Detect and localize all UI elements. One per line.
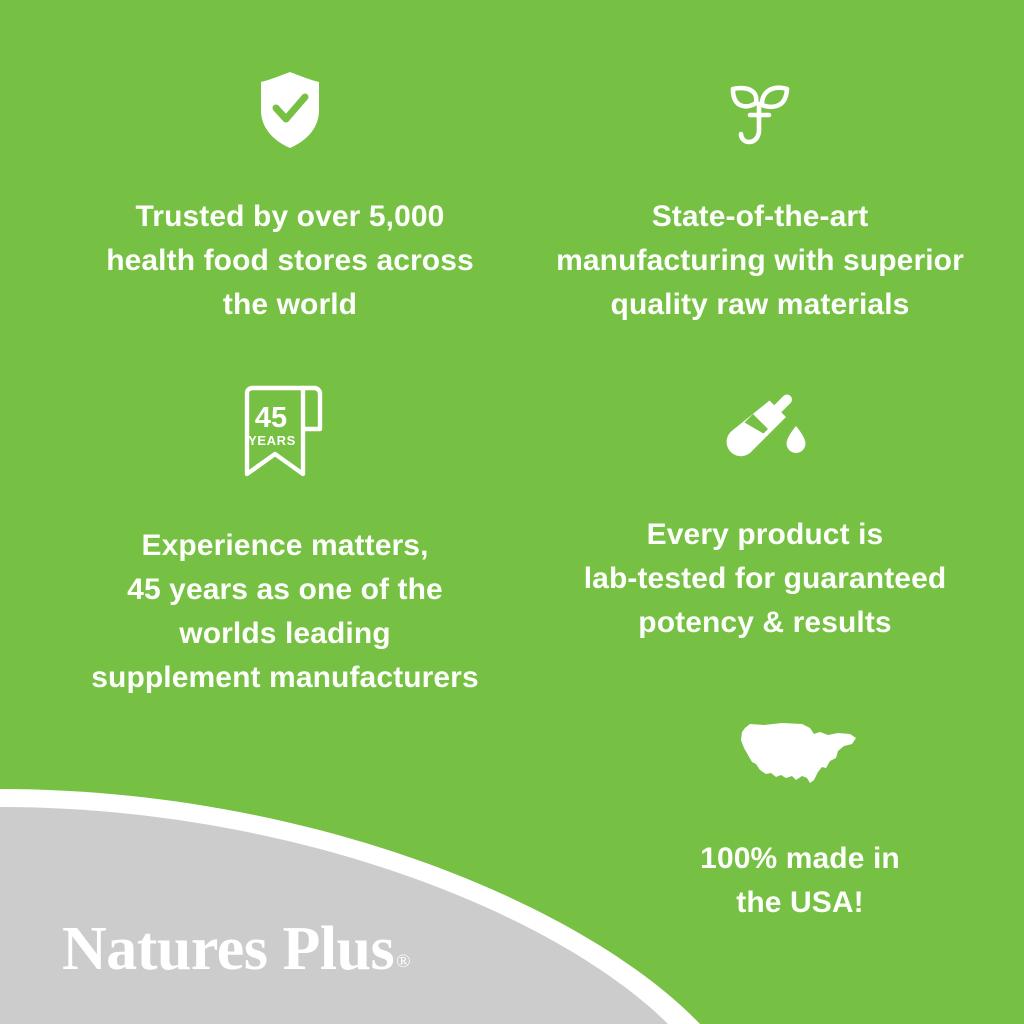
ribbon-label: YEARS [248, 433, 296, 448]
feature-manufacturing: State-of-the-art manufacturing with supe… [520, 72, 1000, 327]
feature-trusted: Trusted by over 5,000 health food stores… [40, 72, 540, 327]
promo-graphic: Trusted by over 5,000 health food stores… [0, 0, 1024, 1024]
registered-trademark-icon: ® [396, 951, 410, 972]
brand-logo: Natures Plus® [62, 918, 411, 980]
feature-madeinusa: 100% made in the USA! [560, 718, 1024, 925]
test-tube-drop-icon [525, 392, 1005, 464]
feature-madeinusa-text: 100% made in the USA! [560, 837, 1024, 925]
feature-manufacturing-text: State-of-the-art manufacturing with supe… [520, 195, 1000, 327]
ribbon-number: 45 [255, 402, 287, 434]
brand-name: Natures Plus [62, 915, 394, 983]
feature-experience: 45 YEARS Experience matters, 45 years as… [35, 385, 535, 700]
usa-map-icon [560, 718, 1024, 790]
feature-experience-text: Experience matters, 45 years as one of t… [35, 524, 535, 700]
sprout-icon [520, 72, 1000, 148]
anniversary-ribbon-icon: 45 YEARS [35, 385, 535, 477]
feature-trusted-text: Trusted by over 5,000 health food stores… [40, 195, 540, 327]
feature-labtested: Every product is lab-tested for guarante… [525, 392, 1005, 645]
shield-check-icon [40, 72, 540, 148]
feature-labtested-text: Every product is lab-tested for guarante… [525, 513, 1005, 645]
